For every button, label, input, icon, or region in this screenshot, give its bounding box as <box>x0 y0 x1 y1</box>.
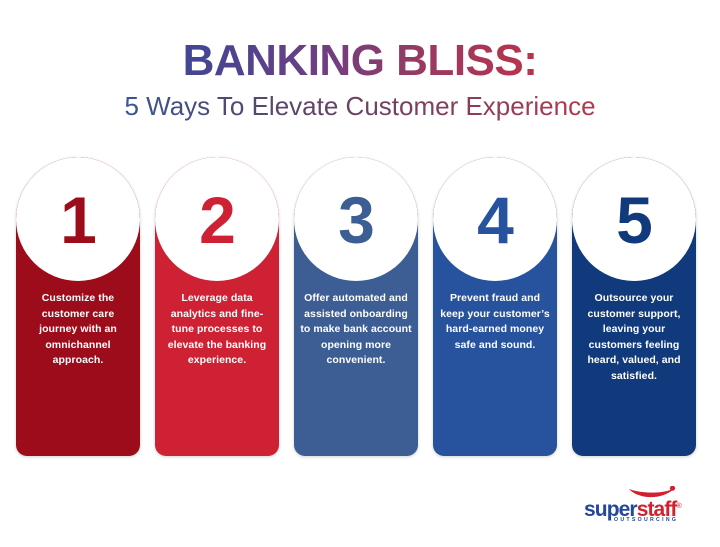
card-4-number-circle: 4 <box>433 157 557 281</box>
card-3-number: 3 <box>338 187 374 253</box>
card-1-text: Customize the customer care journey with… <box>22 291 134 369</box>
card-5-number: 5 <box>616 187 652 253</box>
card-2: 2 Leverage data analytics and fine-tune … <box>155 157 279 456</box>
card-5-text: Outsource your customer support, leaving… <box>578 291 690 384</box>
page-subtitle: 5 Ways To Elevate Customer Experience <box>0 90 720 122</box>
card-1-number-circle: 1 <box>16 157 140 281</box>
card-3: 3 Offer automated and assisted onboardin… <box>294 157 418 456</box>
card-4-number: 4 <box>477 187 513 253</box>
card-1: 1 Customize the customer care journey wi… <box>16 157 140 456</box>
page-title: BANKING BLISS: <box>0 36 720 86</box>
card-3-text: Offer automated and assisted onboarding … <box>300 291 412 369</box>
logo-trademark: ® <box>677 503 681 510</box>
card-4: 4 Prevent fraud and keep your customer’s… <box>433 157 557 456</box>
card-3-number-circle: 3 <box>294 157 418 281</box>
card-2-number-circle: 2 <box>155 157 279 281</box>
superstaff-logo: superstaff® OUTSOURCING <box>584 486 698 526</box>
logo-tagline: OUTSOURCING <box>614 517 698 523</box>
card-5-number-circle: 5 <box>572 157 696 281</box>
infographic-page: BANKING BLISS: 5 Ways To Elevate Custome… <box>0 0 720 547</box>
card-4-text: Prevent fraud and keep your customer’s h… <box>439 291 551 353</box>
cards-row: 1 Customize the customer care journey wi… <box>0 157 720 459</box>
card-2-text: Leverage data analytics and fine-tune pr… <box>161 291 273 369</box>
card-1-number: 1 <box>60 187 96 253</box>
card-2-number: 2 <box>199 187 235 253</box>
header: BANKING BLISS: 5 Ways To Elevate Custome… <box>0 0 720 140</box>
card-5: 5 Outsource your customer support, leavi… <box>572 157 696 456</box>
